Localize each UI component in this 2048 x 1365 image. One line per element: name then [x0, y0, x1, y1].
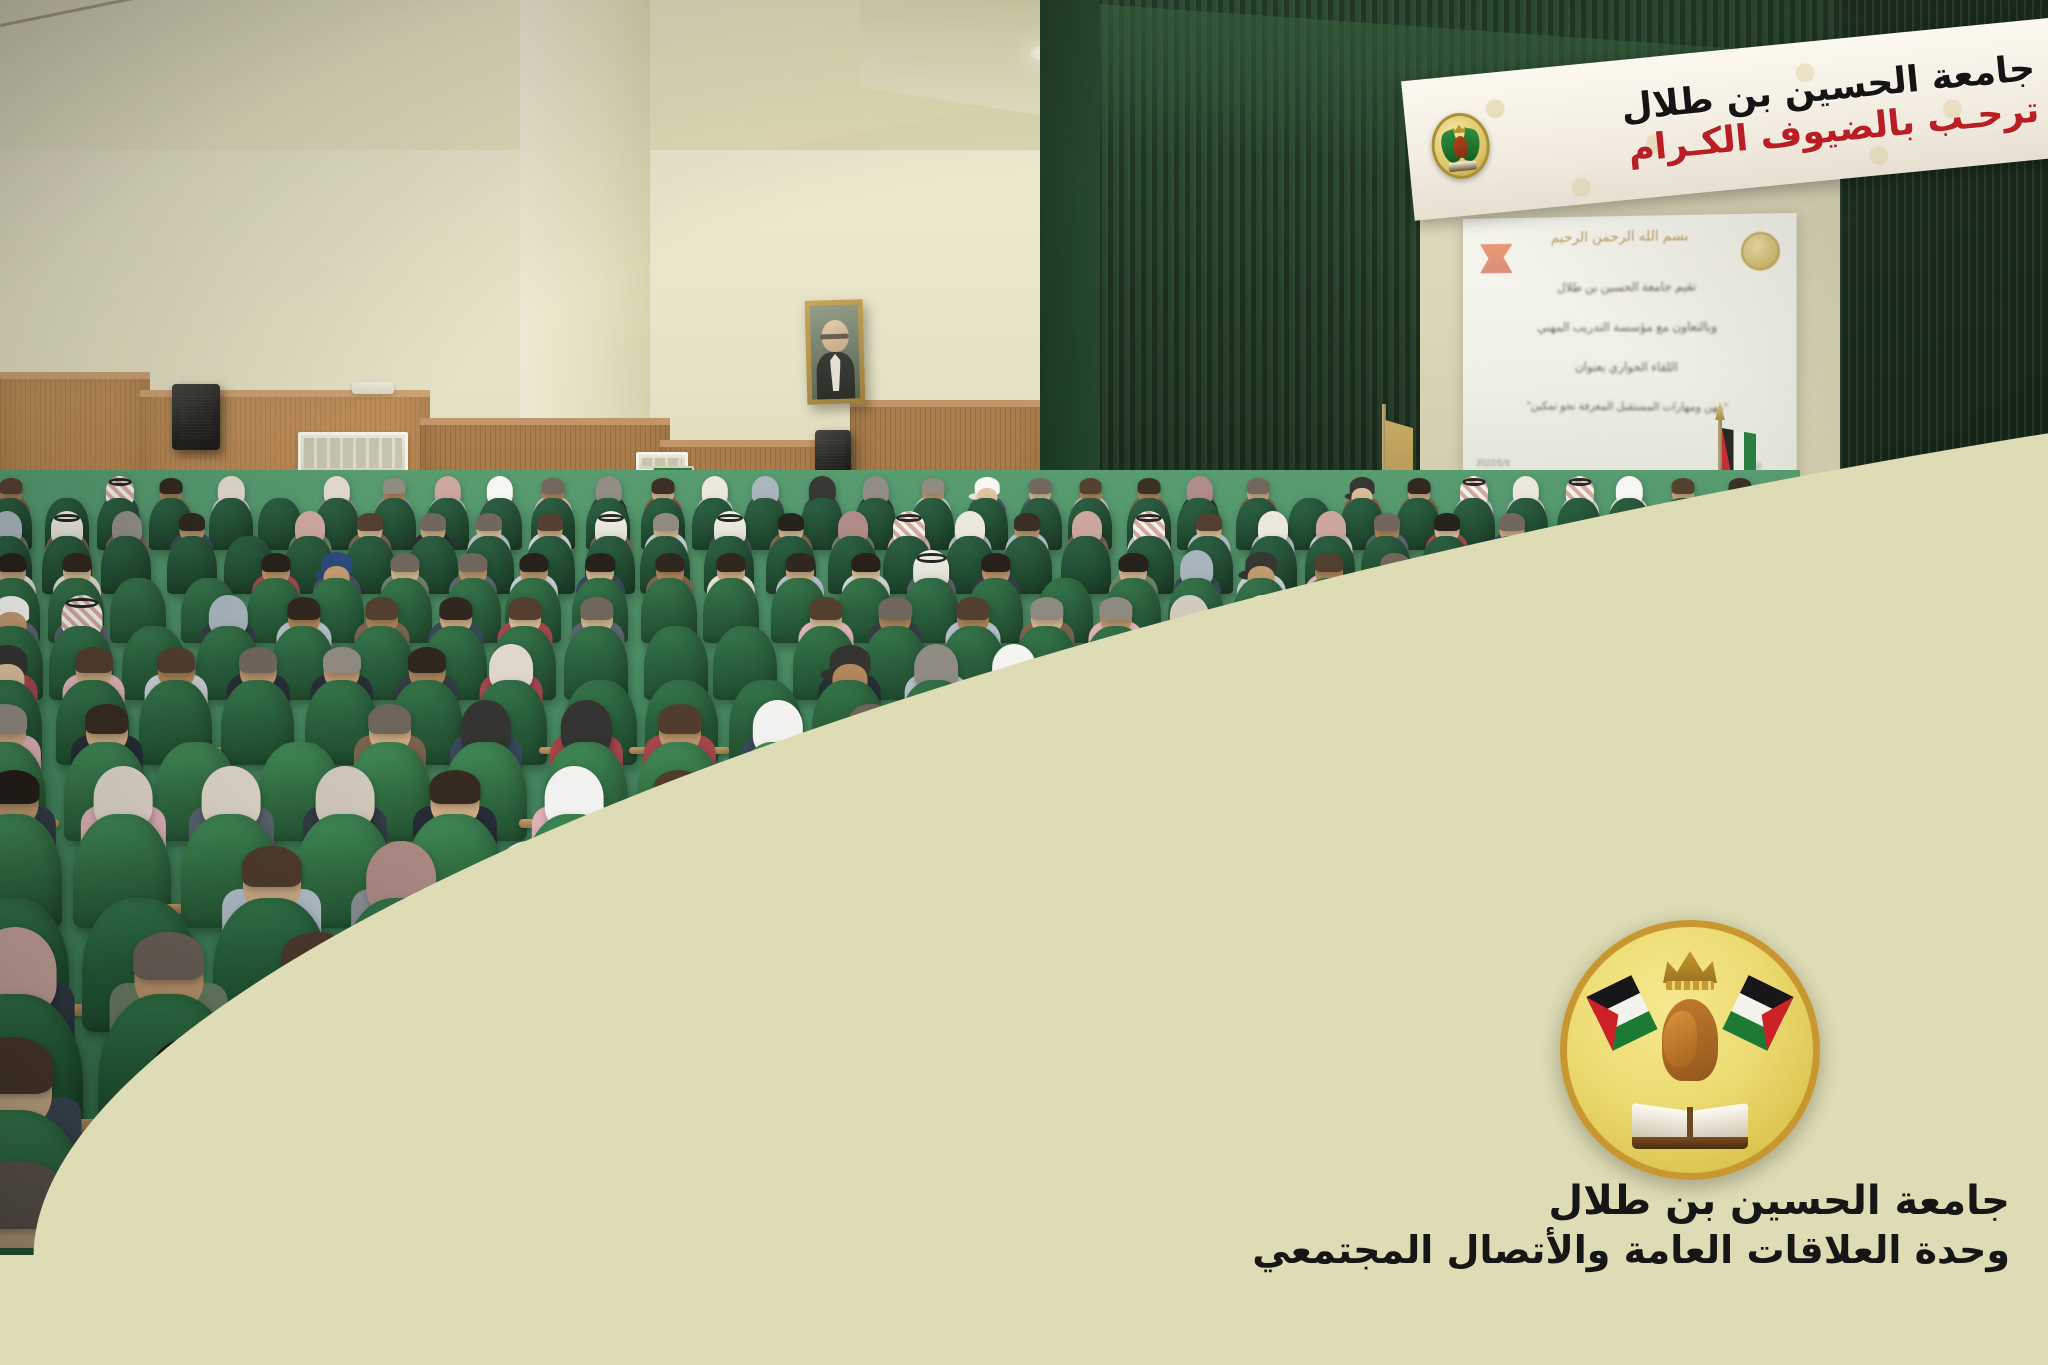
person-hair — [357, 513, 383, 531]
slide-line-2: وبالتعاون مع مؤسسة التدريب المهني — [1486, 319, 1772, 334]
person-hair — [1672, 478, 1695, 494]
person-hair — [0, 770, 39, 805]
banner-crest-icon — [1429, 110, 1493, 181]
person-hair — [476, 513, 502, 531]
person-hair — [75, 647, 113, 673]
person-hair — [778, 513, 804, 531]
person-hair — [133, 932, 205, 980]
person-hair — [1434, 513, 1460, 531]
person-hair — [1014, 513, 1040, 531]
person-hair — [652, 478, 675, 494]
person-hair — [0, 478, 22, 494]
laurel-wreath-right-icon — [1717, 1009, 1791, 1119]
brand-logo — [1560, 920, 1820, 1180]
wall-column — [520, 0, 650, 420]
open-book-icon — [1448, 160, 1477, 172]
portrait-glasses-icon — [820, 334, 849, 339]
royal-profile-icon — [1663, 1011, 1697, 1067]
photo-canvas: بسم الله الرحمن الرحيم تقيم جامعة الحسين… — [0, 0, 2048, 1365]
person-hair — [542, 478, 565, 494]
person-hair — [655, 553, 684, 573]
person-hair — [390, 553, 419, 573]
slide-partner-logo-icon — [1480, 244, 1513, 274]
person-hair — [287, 597, 320, 619]
person-hair — [383, 478, 406, 494]
person-hair — [439, 597, 472, 619]
person-hair — [323, 647, 361, 673]
person-hair — [1374, 513, 1400, 531]
person-hair — [420, 513, 446, 531]
person-hair — [459, 553, 488, 573]
slide-basmala: بسم الله الرحمن الرحيم — [1463, 225, 1782, 247]
person-agal — [65, 598, 98, 609]
wall-speaker-icon-1 — [172, 384, 220, 450]
person-hair — [580, 597, 613, 619]
person-hair — [408, 647, 446, 673]
person-hair — [62, 553, 91, 573]
person-hair — [586, 553, 615, 573]
person-hair — [537, 513, 563, 531]
wall-louvre-icon — [352, 382, 394, 394]
person-hair — [519, 553, 548, 573]
person-hair — [981, 553, 1010, 573]
person-hair — [0, 1037, 54, 1094]
person-hair — [957, 597, 990, 619]
person-hair — [508, 597, 541, 619]
person-hair — [653, 513, 679, 531]
open-book-icon — [1632, 1107, 1748, 1149]
person-hair — [242, 846, 302, 887]
person-hair — [1196, 513, 1222, 531]
person-hair — [0, 553, 27, 573]
person-hair — [1079, 478, 1102, 494]
person-hair — [921, 478, 944, 494]
person-hair — [179, 513, 205, 531]
person-hair — [1030, 597, 1063, 619]
person-hair — [85, 704, 129, 734]
person-hair — [658, 704, 702, 734]
person-hair — [1100, 597, 1133, 619]
banner-text-block: جامعة الحسين بن طلال ترحـب بالضيوف الكـر… — [1620, 50, 2041, 170]
slide-line-3: اللقاء الحواري بعنوان — [1486, 360, 1772, 375]
brand-caption: جامعة الحسين بن طلال وحدة العلاقات العام… — [1140, 1176, 2010, 1275]
person-hair — [717, 553, 746, 573]
person-hair — [157, 647, 195, 673]
person-hair — [1119, 553, 1148, 573]
brand-unit-name: وحدة العلاقات العامة والأتصال المجتمعي — [1140, 1226, 2010, 1275]
person-hair — [1314, 553, 1343, 573]
person-hair — [851, 553, 880, 573]
slide-line-4: "مهن ومهارات المستقبل المعرفة نحو تمكين" — [1486, 399, 1772, 414]
slide-date: 2022/5/9 — [1476, 458, 1510, 468]
person-hair — [368, 704, 412, 734]
laurel-wreath-left-icon — [1589, 1009, 1663, 1119]
person-hair — [879, 597, 912, 619]
person-hair — [809, 597, 842, 619]
person-hair — [1407, 478, 1430, 494]
person-hair — [430, 770, 481, 805]
person-hair — [160, 478, 183, 494]
person-hair — [1029, 478, 1052, 494]
person-hair — [1247, 478, 1270, 494]
framed-portrait — [805, 299, 866, 405]
person-hair — [1138, 478, 1161, 494]
portrait-image — [810, 304, 861, 399]
brand-university-name: جامعة الحسين بن طلال — [1140, 1176, 2010, 1226]
person-hair — [240, 647, 278, 673]
person-hair — [261, 553, 290, 573]
crown-base-icon — [1666, 981, 1714, 990]
slide-line-1: تقيم جامعة الحسين بن طلال — [1486, 279, 1772, 295]
person-hair — [365, 597, 398, 619]
person-hair — [1499, 513, 1525, 531]
person-hair — [785, 553, 814, 573]
person-hair — [0, 704, 27, 734]
air-vent-icon-1 — [298, 432, 408, 474]
